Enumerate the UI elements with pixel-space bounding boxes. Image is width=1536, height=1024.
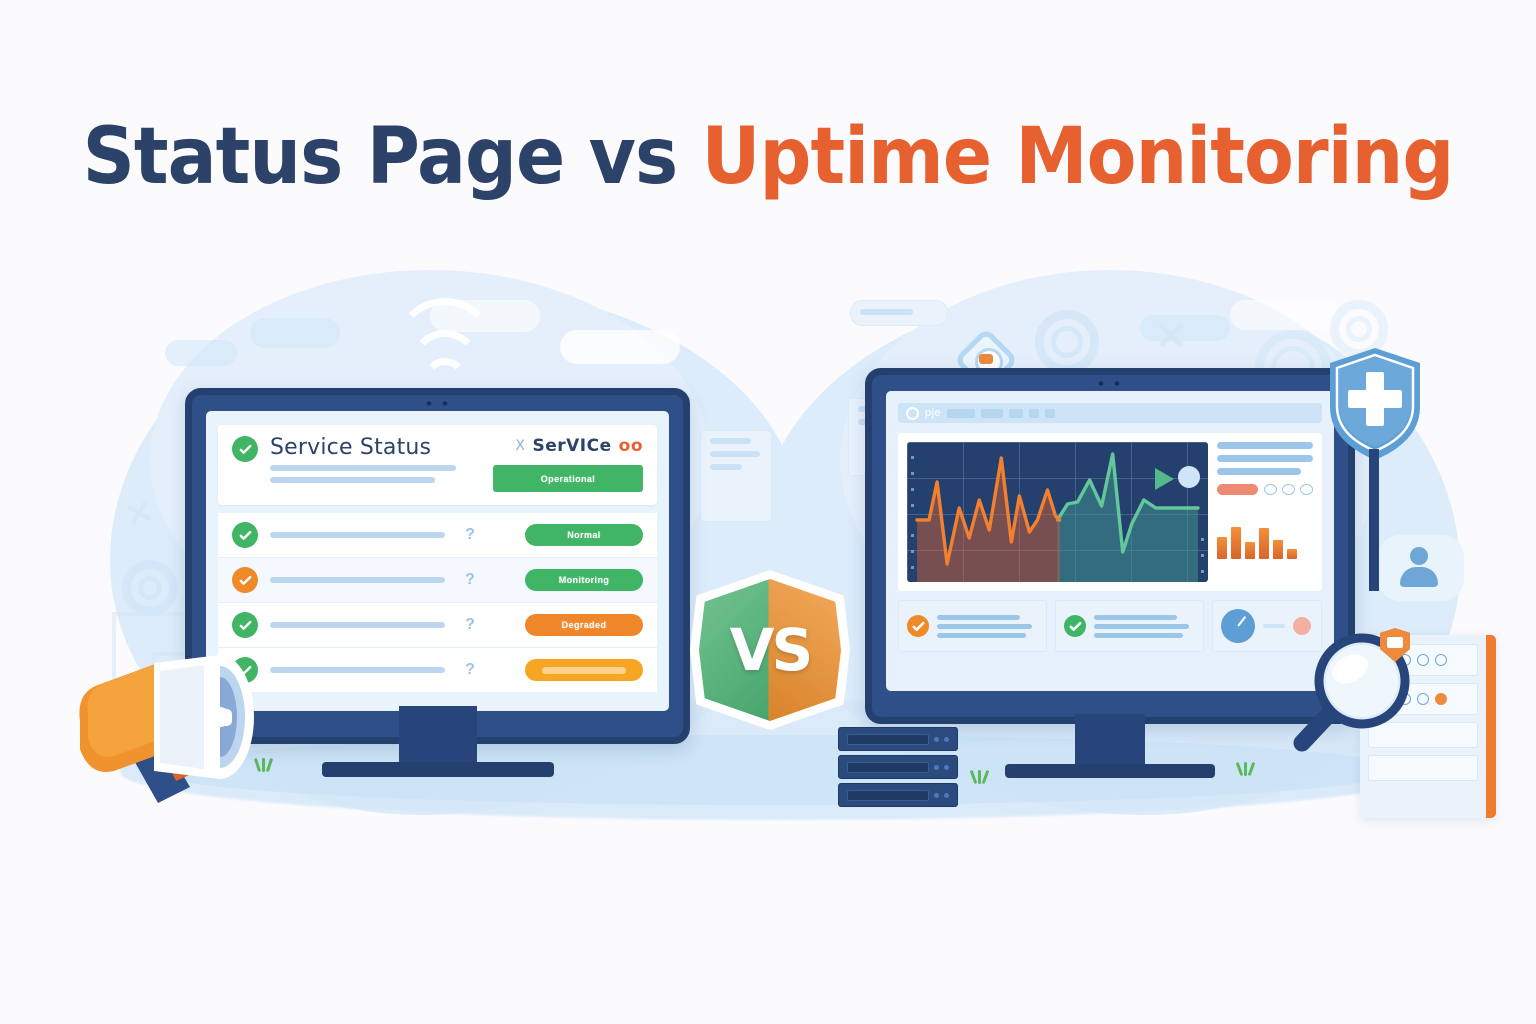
row-marker: ?: [457, 661, 483, 679]
background-document: [850, 300, 948, 326]
gauge-connector: [1263, 624, 1285, 628]
server-unit: [838, 727, 958, 751]
status-badge[interactable]: Degraded: [525, 614, 643, 636]
status-badge[interactable]: Normal: [525, 524, 643, 546]
placeholder-line: [270, 465, 456, 471]
gauge-icon: [1221, 609, 1255, 643]
monitor-neck: [1075, 714, 1145, 766]
title-orange-part: Uptime Monitoring: [702, 112, 1454, 202]
table-row[interactable]: ? Monitoring: [218, 558, 657, 603]
page-title: Status Page vs Uptime Monitoring: [0, 118, 1536, 196]
row-marker: ?: [457, 571, 483, 589]
vs-badge-label: VS: [730, 616, 811, 684]
gear-icon: [122, 560, 178, 616]
vs-badge: VS: [690, 570, 850, 730]
background-document: [700, 430, 772, 522]
shield-plus-icon: [1325, 345, 1425, 463]
plus-decoration: [126, 500, 152, 526]
dashboard-side-panel: [1217, 442, 1313, 582]
row-marker: ?: [457, 616, 483, 634]
url-text: pje: [925, 407, 941, 419]
illustration-stage: Status Page vs Uptime Monitoring: [0, 0, 1536, 1024]
check-circle-icon: [232, 436, 258, 462]
rack-unit: [1368, 755, 1478, 781]
dashboard-status-cards: [898, 600, 1322, 652]
cloud-icon: [250, 318, 340, 348]
rack-shield-icon: [1380, 628, 1410, 662]
uptime-monitoring-monitor[interactable]: pje: [865, 368, 1355, 724]
server-unit: [838, 755, 958, 779]
check-circle-icon: [907, 615, 929, 637]
check-circle-icon: [232, 522, 258, 548]
vs-badge-face: VS: [699, 579, 841, 721]
status-card-warning[interactable]: [898, 600, 1047, 652]
status-card-healthy[interactable]: [1055, 600, 1204, 652]
plus-decoration: [1156, 320, 1186, 350]
dashboard-panel: [898, 433, 1322, 591]
play-triangle-icon: [1155, 468, 1174, 490]
service-name-placeholder: [270, 577, 445, 583]
alert-bar: [1217, 484, 1258, 495]
title-navy-part: Status Page vs: [83, 112, 702, 202]
service-status-title: Service Status: [270, 436, 481, 459]
status-badge-operational[interactable]: Operational: [493, 465, 643, 492]
side-bar-chart[interactable]: [1217, 507, 1313, 559]
chart-series-paths: [907, 442, 1208, 582]
monitor-bezel-right: pje: [865, 368, 1355, 724]
shield-pole: [1369, 449, 1379, 591]
brand-logo: X SerVICe oo: [493, 436, 643, 456]
monitor-foot: [1005, 764, 1215, 778]
brand-prefix: X: [515, 438, 525, 454]
uptime-chart[interactable]: [907, 442, 1208, 582]
service-status-header-card[interactable]: Service Status X SerVICe oo Operational: [218, 425, 657, 505]
status-badge[interactable]: [525, 659, 643, 681]
monitor-foot: [322, 762, 554, 777]
brand-suffix: oo: [619, 436, 643, 456]
megaphone-icon: [62, 625, 312, 815]
status-dots: [1264, 484, 1313, 495]
gear-icon: [1035, 310, 1099, 374]
server-unit: [838, 783, 958, 807]
cloud-icon: [1230, 300, 1340, 330]
service-name-placeholder: [270, 532, 445, 538]
brand-text: SerVICe: [532, 436, 611, 456]
cloud-icon: [560, 330, 680, 364]
browser-address-bar[interactable]: pje: [898, 403, 1322, 423]
check-circle-icon: [232, 567, 258, 593]
server-stack-icon: [838, 727, 958, 811]
status-badge[interactable]: Monitoring: [525, 569, 643, 591]
placeholder-line: [270, 477, 435, 483]
uptime-dashboard-screen[interactable]: pje: [886, 391, 1334, 691]
monitor-neck: [399, 706, 477, 764]
cloud-icon: [165, 340, 237, 366]
table-row[interactable]: ? Normal: [218, 513, 657, 558]
row-marker: ?: [457, 526, 483, 544]
chart-endpoint-dot: [1178, 466, 1200, 488]
check-circle-icon: [1064, 615, 1086, 637]
browser-dot-icon: [906, 407, 919, 420]
user-avatar-bubble: [1378, 535, 1464, 601]
